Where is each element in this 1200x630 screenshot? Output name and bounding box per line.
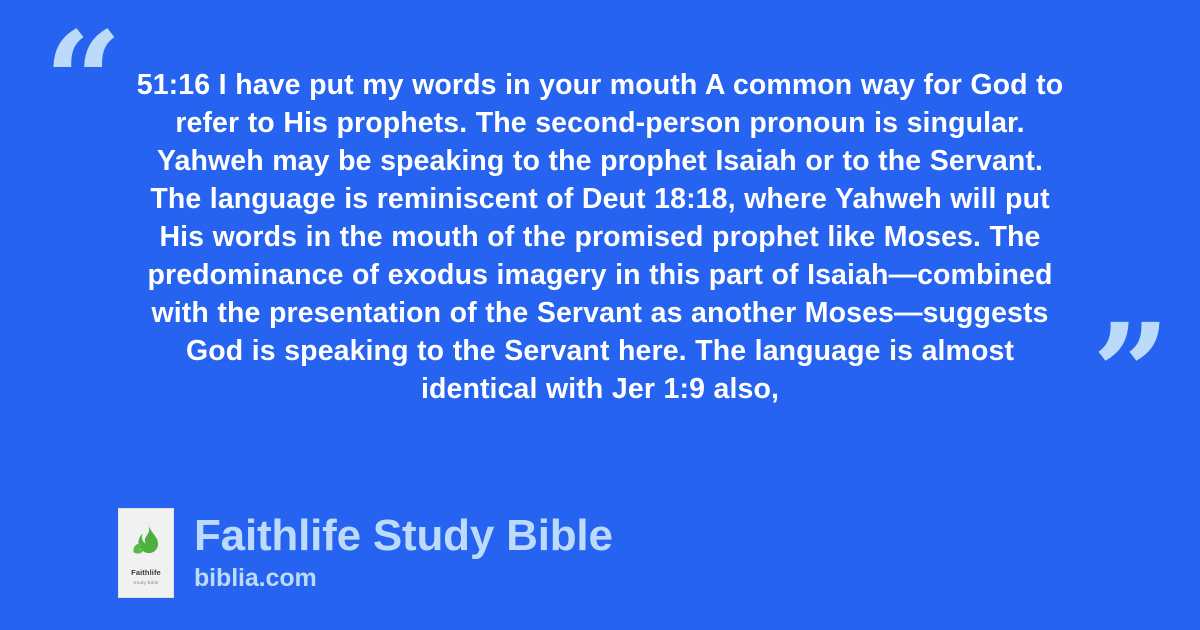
footer-text-block: Faithlife Study Bible biblia.com [194,513,613,593]
opening-quote-icon: “ [44,14,122,150]
logo-card-title: Faithlife [119,568,173,577]
logo-card-subtitle: Study Bible [119,580,173,585]
quote-card: “ ” 51:16 I have put my words in your mo… [0,0,1200,630]
quote-text: 51:16 I have put my words in your mouth … [130,66,1070,408]
footer: Faithlife Study Bible Faithlife Study Bi… [118,508,613,598]
brand-title: Faithlife Study Bible [194,513,613,559]
faithlife-flame-logo-icon [133,521,159,555]
brand-url[interactable]: biblia.com [194,563,613,593]
closing-quote-icon: ” [1092,306,1170,442]
faithlife-logo-card: Faithlife Study Bible [118,508,174,598]
